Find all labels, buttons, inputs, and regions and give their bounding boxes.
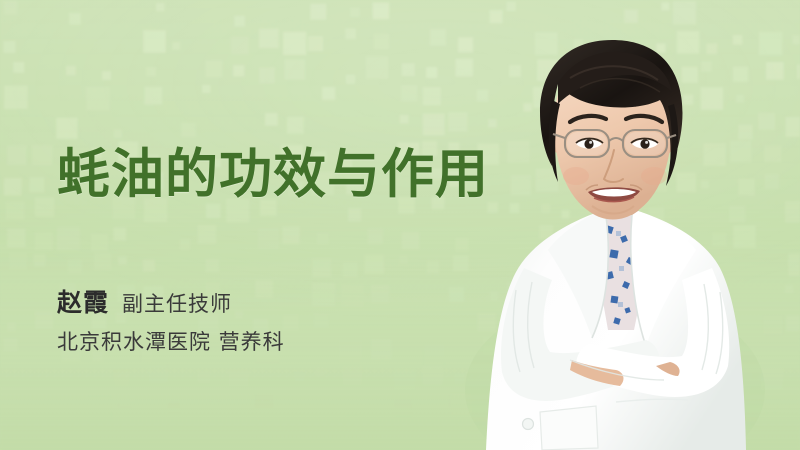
video-cover-card: 蚝油的功效与作用 赵霞副主任技师 北京积水潭医院 营养科 <box>0 0 800 450</box>
page-title: 蚝油的功效与作用 <box>57 146 489 204</box>
doctor-affiliation: 北京积水潭医院 营养科 <box>57 326 285 356</box>
doctor-rank: 副主任技师 <box>122 292 232 316</box>
byline: 赵霞副主任技师 <box>57 283 232 319</box>
text-block: 蚝油的功效与作用 赵霞副主任技师 北京积水潭医院 营养科 <box>57 0 527 450</box>
doctor-name: 赵霞 <box>57 288 109 317</box>
